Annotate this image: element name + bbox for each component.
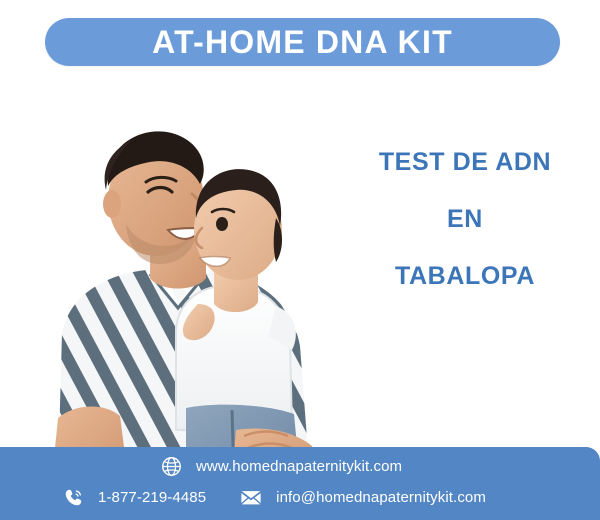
phone-icon	[62, 486, 84, 508]
envelope-icon	[240, 486, 262, 508]
poster-canvas: AT-HOME DNA KIT	[0, 0, 600, 520]
footer-website-row: www.homednapaternitykit.com	[160, 455, 402, 477]
headline-line-3: TABALOPA	[330, 264, 600, 289]
family-photo	[0, 78, 330, 478]
email-text: info@homednapaternitykit.com	[276, 490, 486, 505]
footer-contact-row: 1-877-219-4485 info@homednapaternitykit.…	[62, 486, 486, 508]
globe-icon	[160, 455, 182, 477]
header-pill: AT-HOME DNA KIT	[45, 18, 560, 66]
headline-block: TEST DE ADN EN TABALOPA	[330, 150, 600, 289]
page-title: AT-HOME DNA KIT	[152, 26, 453, 58]
website-item[interactable]: www.homednapaternitykit.com	[160, 455, 402, 477]
phone-text: 1-877-219-4485	[98, 490, 206, 505]
headline-line-2: EN	[330, 207, 600, 232]
website-text: www.homednapaternitykit.com	[196, 459, 402, 474]
headline-line-1: TEST DE ADN	[330, 150, 600, 175]
email-item[interactable]: info@homednapaternitykit.com	[240, 486, 486, 508]
phone-item[interactable]: 1-877-219-4485	[62, 486, 206, 508]
